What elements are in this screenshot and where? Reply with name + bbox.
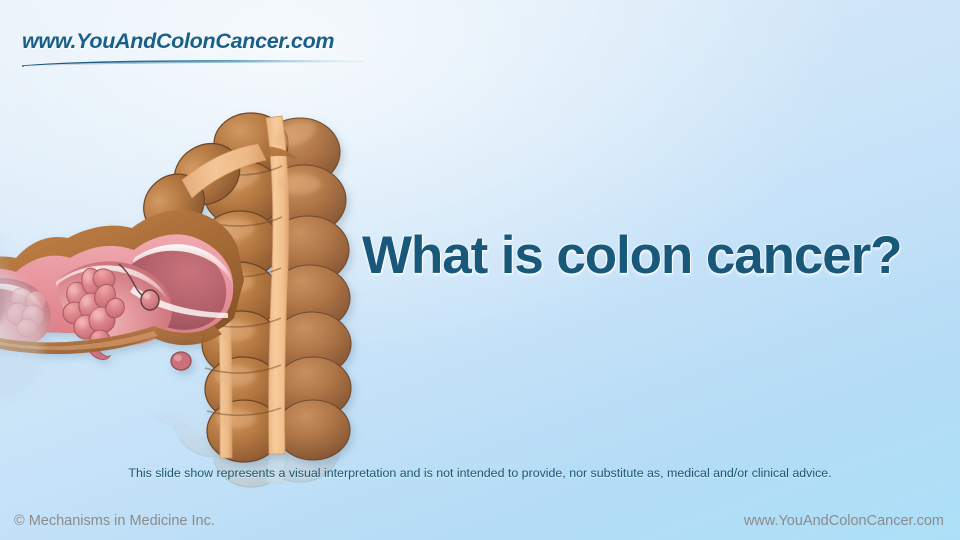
copyright-notice: © Mechanisms in Medicine Inc. [14, 513, 215, 529]
site-logo-text: www.YouAndColonCancer.com [22, 29, 334, 54]
disclaimer-text: This slide show represents a visual inte… [0, 466, 960, 480]
footer-website: www.YouAndColonCancer.com [744, 513, 944, 529]
page-title: What is colon cancer? [362, 225, 901, 286]
colon-polyp-small [171, 352, 191, 370]
colon-illustration [0, 82, 362, 472]
logo-swoosh-underline [20, 58, 365, 67]
slide-canvas: www.YouAndColonCancer.com What is colon … [0, 0, 960, 540]
